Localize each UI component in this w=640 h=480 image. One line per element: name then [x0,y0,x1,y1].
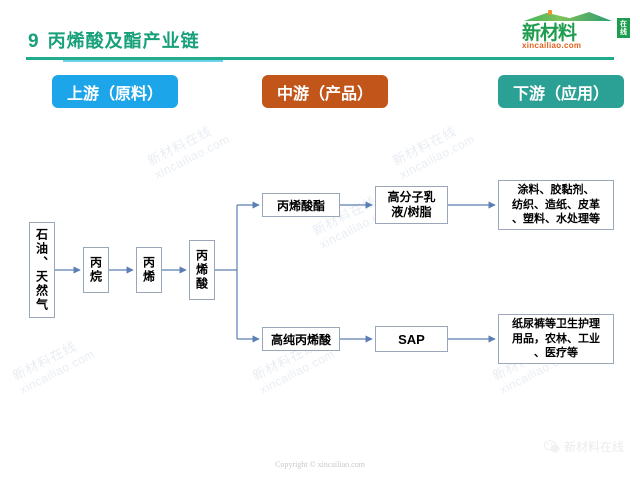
logo-url: xincailiao.com [522,41,581,50]
node-propane[interactable]: 丙烷 [83,247,109,293]
sun-dot-icon [548,10,552,15]
page-title-row: 9 丙烯酸及酯产业链 [28,27,200,53]
node-apps2-line3: 、医疗等 [534,346,578,359]
node-polymer-line2: 液/树脂 [391,205,431,219]
node-propylene[interactable]: 丙烯 [136,247,162,293]
wechat-label: 新材料在线 [564,438,624,455]
node-oil-and-gas[interactable]: 石油、天然气 [29,222,55,318]
node-polymer-line1: 高分子乳 [387,190,435,204]
node-apps1-line1: 涂料、胶黏剂、 [518,183,595,196]
page-title: 丙烯酸及酯产业链 [48,27,200,53]
node-apps2-line2: 用品，农林、工业 [512,332,600,345]
node-apps1-line3: 、塑料、水处理等 [512,212,600,225]
node-apps1-line2: 纺织、造纸、皮革 [512,198,600,211]
stage-banner-downstream[interactable]: 下游（应用） [498,75,624,108]
stage-banner-upstream[interactable]: 上游（原料） [52,75,178,108]
node-acrylate-ester[interactable]: 丙烯酸酯 [262,193,340,217]
node-apps2-line1: 纸尿裤等卫生护理 [512,317,600,330]
stage-banner-midstream[interactable]: 中游（产品） [262,75,388,108]
title-divider-accent [63,60,223,62]
slide-header: 9 丙烯酸及酯产业链 新材料 在线 xincailiao.com [0,0,640,62]
node-polymer-emulsion-resin[interactable]: 高分子乳 液/树脂 [375,186,448,224]
process-flow-diagram: 石油、天然气 丙烷 丙烯 丙烯酸 丙烯酸酯 高分子乳 液/树脂 高纯丙烯酸 SA… [0,0,640,480]
node-high-purity-acrylic-acid[interactable]: 高纯丙烯酸 [262,327,340,351]
copyright-text: Copyright © xincailiao.com [0,460,640,469]
wechat-icon [544,440,560,454]
node-acrylic-acid[interactable]: 丙烯酸 [189,240,215,300]
wechat-badge[interactable]: 新材料在线 [544,438,624,455]
brand-logo[interactable]: 新材料 在线 xincailiao.com [522,12,630,54]
node-sap[interactable]: SAP [375,326,448,352]
node-applications-coatings[interactable]: 涂料、胶黏剂、 纺织、造纸、皮革 、塑料、水处理等 [498,180,614,230]
node-applications-hygiene[interactable]: 纸尿裤等卫生护理 用品，农林、工业 、医疗等 [498,314,614,364]
slide-number: 9 [28,31,39,53]
logo-badge: 在线 [617,18,630,38]
